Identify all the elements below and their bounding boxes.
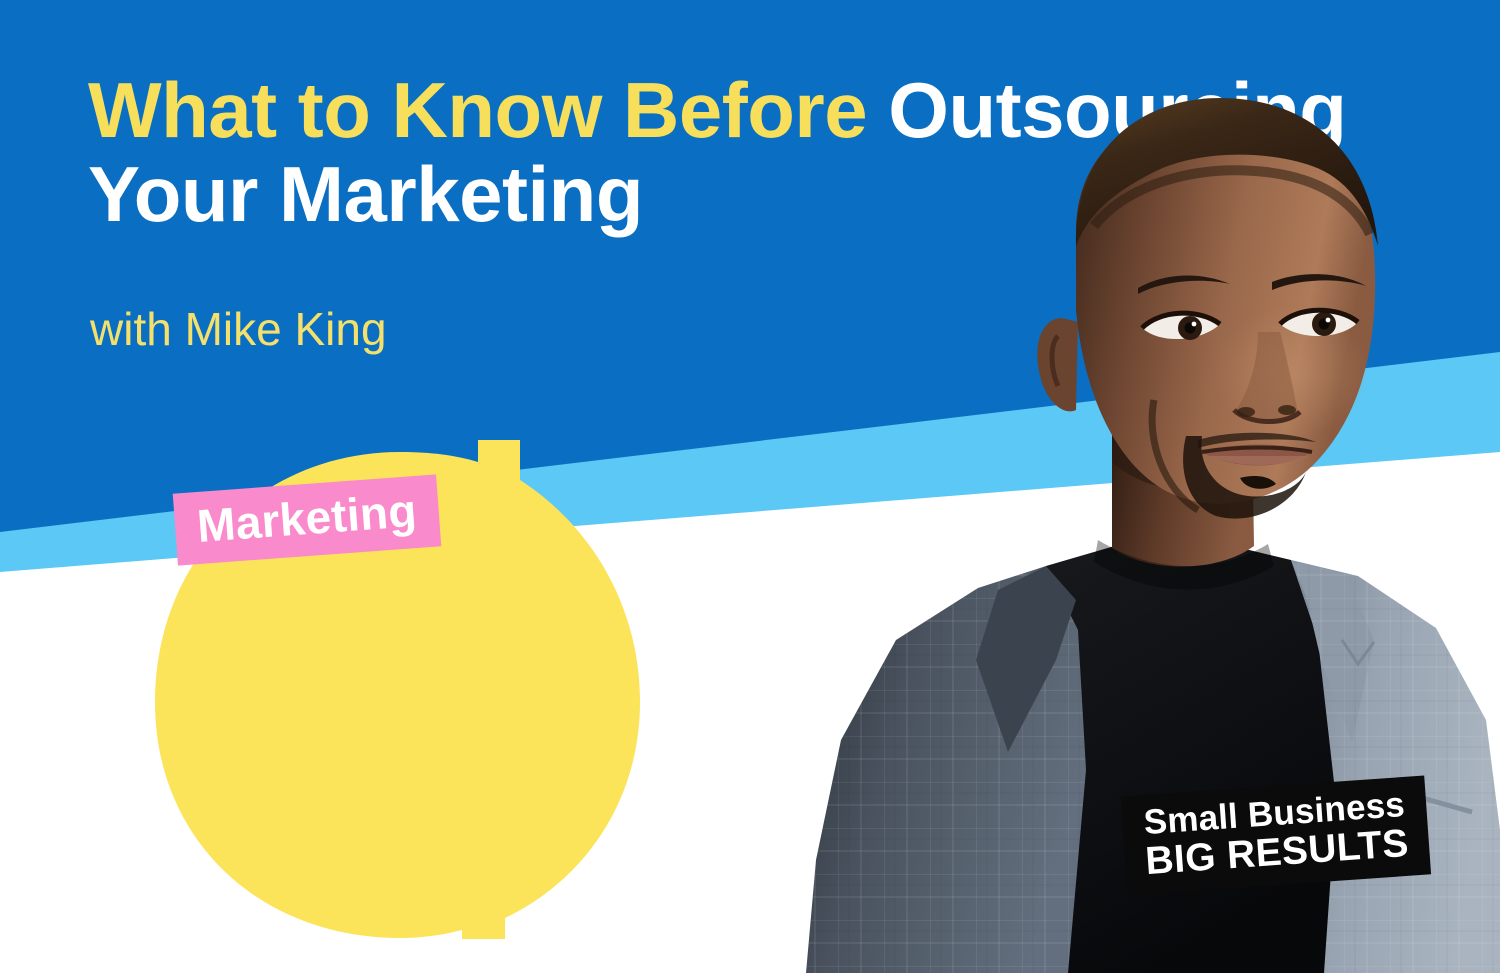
tagline-badge: Small Business BIG RESULTS xyxy=(1121,776,1431,896)
subtitle-host-name: with Mike King xyxy=(90,302,387,356)
black-tshirt xyxy=(1046,542,1338,973)
marketing-tag-label: Marketing xyxy=(195,485,418,551)
promo-graphic: What to Know Before Outsourcing Your Mar… xyxy=(0,0,1500,973)
ear-left xyxy=(1037,318,1078,411)
